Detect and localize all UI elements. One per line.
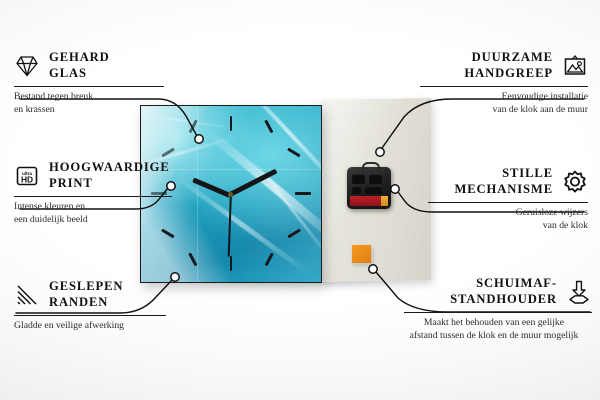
connector-node — [391, 185, 399, 193]
feature-subtitle: Intense kleuren en een duidelijk beeld — [14, 201, 189, 227]
feature-title: STILLE MECHANISME — [454, 166, 553, 198]
feature-title: HOOGWAARDIGE PRINT — [49, 160, 170, 192]
infographic-canvas: GEHARD GLAS Bestand tegen breuk en krass… — [0, 0, 600, 400]
feature-subtitle: Maakt het behouden van een gelijke afsta… — [396, 317, 592, 343]
gear-icon — [562, 169, 588, 195]
feature-heading-row: GEHARD GLAS — [14, 50, 184, 82]
feature-heading-row: DUURZAME HANDGREEP — [400, 50, 588, 82]
feature-divider — [404, 312, 592, 313]
svg-text:HD: HD — [21, 174, 33, 184]
feature-divider — [14, 86, 164, 87]
feature-heading-row: GESLEPEN RANDEN — [14, 279, 184, 311]
feature-schuimaf-standhouder: SCHUIMAF- STANDHOUDER Maakt het behouden… — [396, 276, 592, 343]
feature-subtitle: Gladde en veilige afwerking — [14, 320, 184, 333]
connector-node — [369, 265, 377, 273]
connector-node — [195, 135, 203, 143]
feature-title: DUURZAME HANDGREEP — [464, 50, 553, 82]
feature-subtitle: Bestand tegen breuk en krassen — [14, 91, 184, 117]
diamond-icon — [14, 53, 40, 79]
feature-duurzame-handgreep: DUURZAME HANDGREEP Eenvoudige installati… — [400, 50, 588, 117]
diagonal-lines-icon — [14, 282, 40, 308]
feature-divider — [428, 202, 588, 203]
feature-stille-mechanisme: STILLE MECHANISME Geruisloze wijzers van… — [410, 166, 588, 233]
ultra-hd-icon: ultra HD — [14, 163, 40, 189]
down-arrow-spacer-icon — [566, 279, 592, 305]
feature-heading-row: SCHUIMAF- STANDHOUDER — [396, 276, 592, 308]
feature-subtitle: Geruisloze wijzers van de klok — [410, 207, 588, 233]
feature-divider — [420, 86, 588, 87]
feature-title: GEHARD GLAS — [49, 50, 110, 82]
connector-node — [376, 148, 384, 156]
feature-divider — [14, 196, 172, 197]
picture-frame-icon — [562, 53, 588, 79]
feature-heading-row: STILLE MECHANISME — [410, 166, 588, 198]
feature-gehard-glas: GEHARD GLAS Bestand tegen breuk en krass… — [14, 50, 184, 117]
feature-subtitle: Eenvoudige installatie van de klok aan d… — [400, 91, 588, 117]
feature-divider — [14, 315, 166, 316]
feature-heading-row: ultra HD HOOGWAARDIGE PRINT — [14, 160, 189, 192]
feature-title: GESLEPEN RANDEN — [49, 279, 123, 311]
feature-hoogwaardige-print: ultra HD HOOGWAARDIGE PRINT Intense kleu… — [14, 160, 189, 227]
feature-geslepen-randen: GESLEPEN RANDEN Gladde en veilige afwerk… — [14, 279, 184, 333]
feature-title: SCHUIMAF- STANDHOUDER — [450, 276, 557, 308]
